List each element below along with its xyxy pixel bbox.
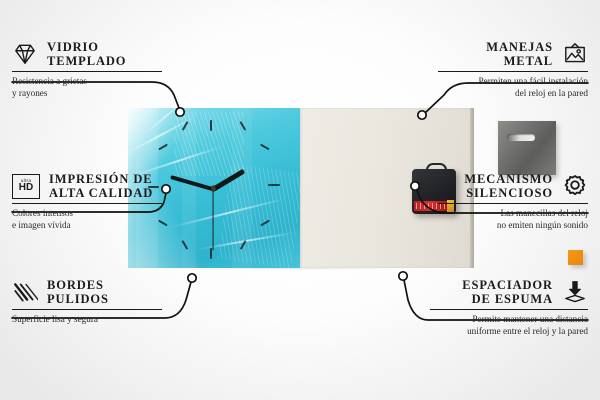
diagonal-stripes-icon bbox=[12, 279, 38, 305]
callout-title: ESPACIADOR DE ESPUMA bbox=[462, 278, 553, 306]
callout-title: IMPRESIÓN DE ALTA CALIDAD bbox=[49, 172, 153, 200]
foam-spacer bbox=[568, 250, 583, 265]
hanger-plate bbox=[498, 121, 556, 175]
callout-rule bbox=[12, 309, 162, 310]
arrow-down-stack-icon bbox=[562, 279, 588, 305]
clock-second-hand bbox=[212, 189, 213, 251]
callout-description: Superficie lisa y segura bbox=[12, 314, 162, 326]
callout-title: MANEJAS METAL bbox=[486, 40, 553, 68]
callout-title: BORDES PULIDOS bbox=[47, 278, 109, 306]
callout-description: Resistencia a grietas y rayones bbox=[12, 76, 162, 99]
callout-title: MECANISMO SILENCIOSO bbox=[464, 172, 553, 200]
diamond-icon bbox=[12, 41, 38, 67]
infographic-canvas: VIDRIO TEMPLADO Resistencia a grietas y … bbox=[0, 0, 600, 400]
callout-vidrio-templado: VIDRIO TEMPLADO Resistencia a grietas y … bbox=[12, 40, 162, 99]
callout-rule bbox=[438, 71, 588, 72]
gear-icon bbox=[562, 173, 588, 199]
callout-description: Permiten una fácil instalación del reloj… bbox=[438, 76, 588, 99]
callout-rule bbox=[12, 203, 162, 204]
callout-impresion-alta-calidad: ultra HD IMPRESIÓN DE ALTA CALIDAD Color… bbox=[12, 172, 162, 231]
callout-rule bbox=[12, 71, 162, 72]
picture-hanger-icon bbox=[562, 41, 588, 67]
hanger-slot bbox=[507, 134, 535, 141]
product-image bbox=[128, 108, 472, 268]
callout-title: VIDRIO TEMPLADO bbox=[47, 40, 126, 68]
callout-description: Las manecillas del reloj no emiten ningú… bbox=[438, 208, 588, 231]
callout-rule bbox=[430, 309, 588, 310]
callout-rule bbox=[438, 203, 588, 204]
clock-center-hub bbox=[211, 186, 216, 191]
callout-description: Permite mantener una distancia uniforme … bbox=[430, 314, 588, 337]
callout-manejas-metal: MANEJAS METAL Permiten una fácil instala… bbox=[438, 40, 588, 99]
callout-description: Colores intensos e imagen vívida bbox=[12, 208, 162, 231]
ultra-hd-large-label: HD bbox=[19, 183, 33, 193]
ultra-hd-icon: ultra HD bbox=[12, 174, 40, 199]
callout-bordes-pulidos: BORDES PULIDOS Superficie lisa y segura bbox=[12, 278, 162, 326]
callout-espaciador-de-espuma: ESPACIADOR DE ESPUMA Permite mantener un… bbox=[430, 278, 588, 337]
callout-mecanismo-silencioso: MECANISMO SILENCIOSO Las manecillas del … bbox=[438, 172, 588, 231]
